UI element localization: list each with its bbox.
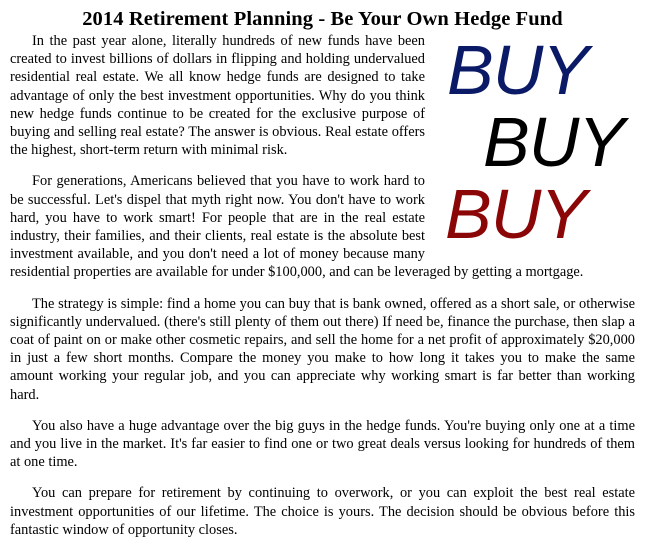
article-paragraph-5: You can prepare for retirement by contin… bbox=[10, 484, 635, 539]
document-page: 2014 Retirement Planning - Be Your Own H… bbox=[0, 0, 645, 560]
article-body: BUY BUY BUY In the past year alone, lite… bbox=[0, 32, 645, 539]
buy-word-red: BUY bbox=[435, 178, 635, 250]
buy-buy-buy-graphic: BUY BUY BUY bbox=[435, 34, 635, 250]
article-paragraph-4: You also have a huge advantage over the … bbox=[10, 417, 635, 472]
buy-word-navy: BUY bbox=[435, 34, 635, 106]
article-paragraph-3: The strategy is simple: find a home you … bbox=[10, 295, 635, 404]
page-title: 2014 Retirement Planning - Be Your Own H… bbox=[0, 0, 645, 32]
buy-word-black: BUY bbox=[435, 106, 635, 178]
